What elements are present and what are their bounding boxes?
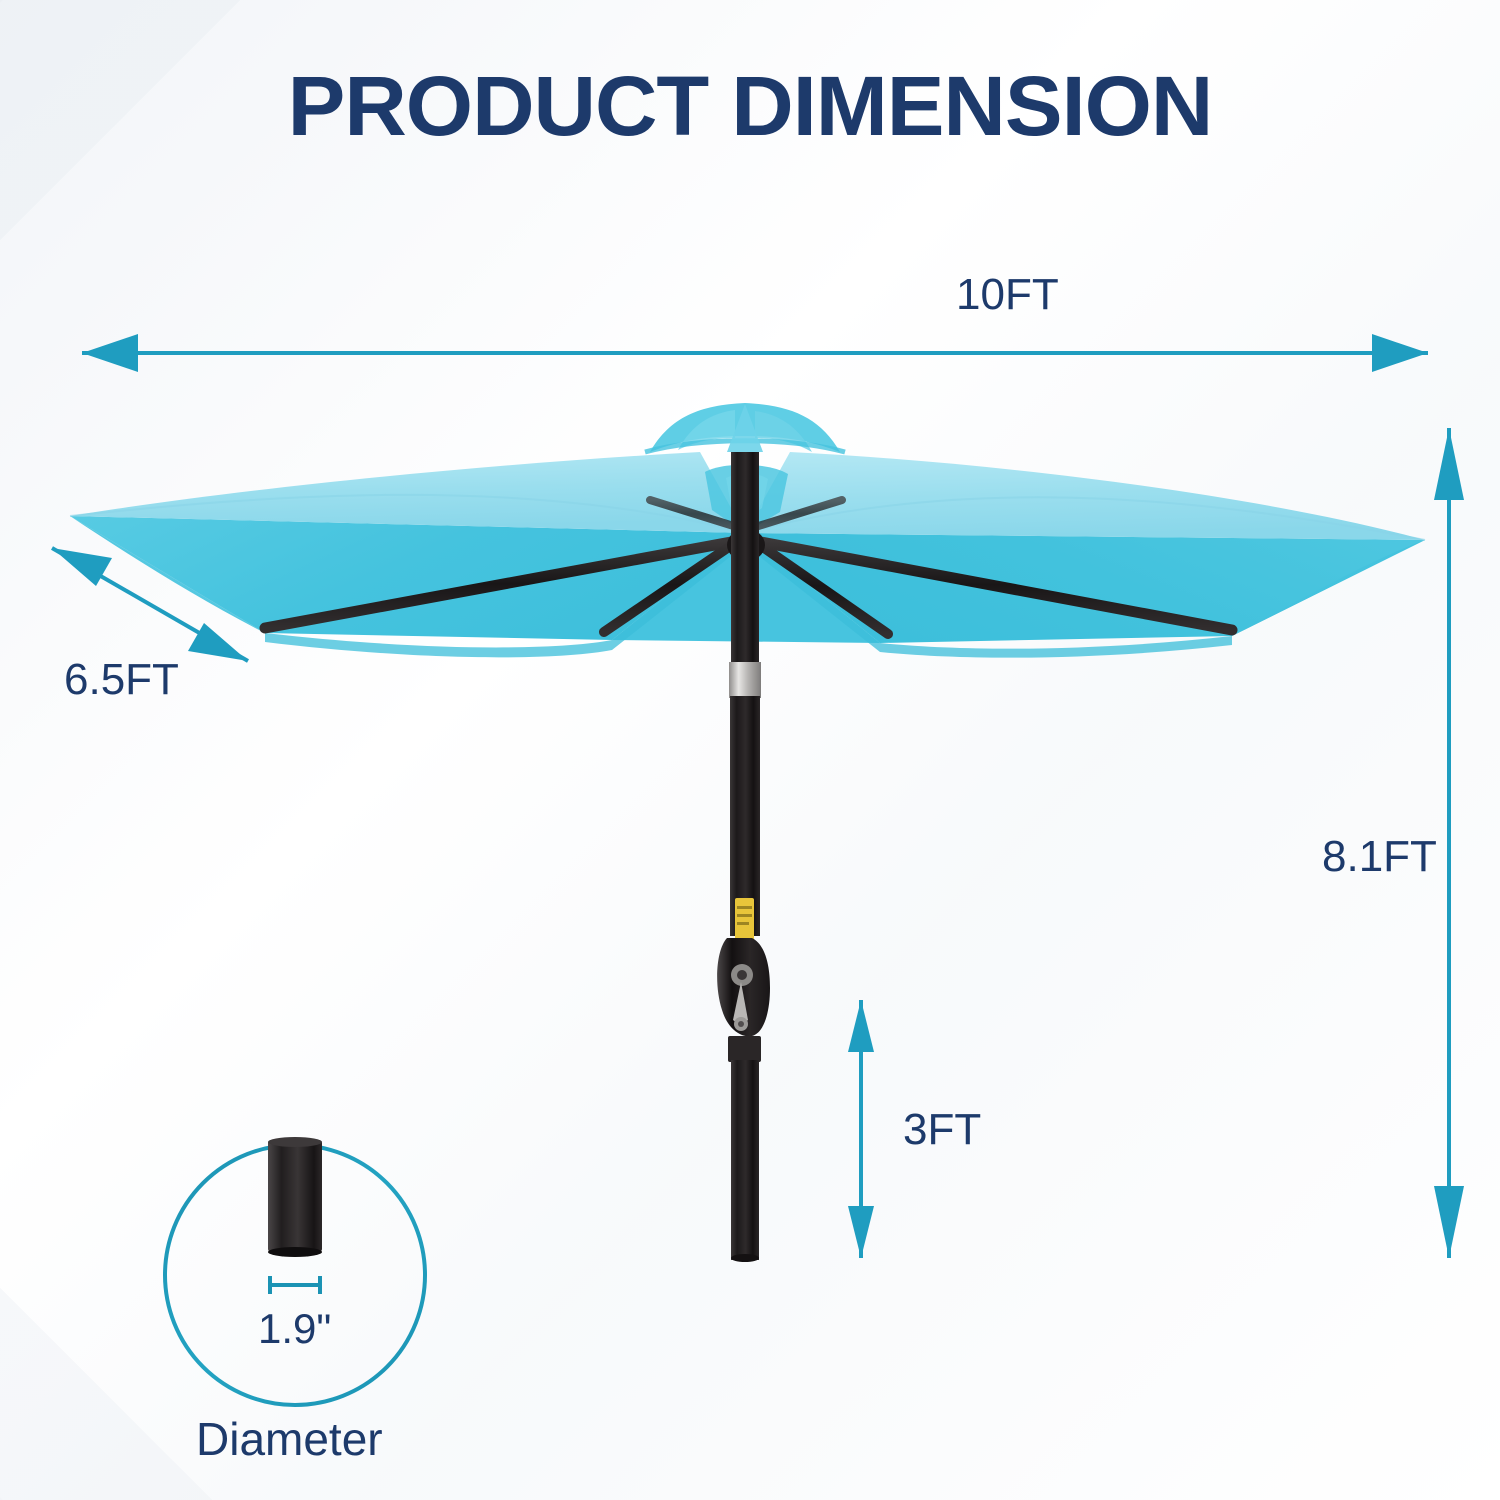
pole-lower-collar [728, 1036, 761, 1062]
product-dimension-diagram: PRODUCT DIMENSION [0, 0, 1500, 1500]
crank-hub-inner [737, 970, 747, 980]
pole-warning-label-text3 [737, 922, 749, 925]
callout-caption: Diameter [196, 1412, 383, 1466]
clearance-dimension-label: 3FT [903, 1105, 981, 1155]
pole-warning-label-text2 [737, 914, 752, 917]
callout-measure-label: 1.9" [258, 1305, 331, 1353]
canopy-top-right [745, 452, 1425, 540]
width-dimension-label: 10FT [956, 270, 1059, 320]
pole-bottom-cap [731, 1254, 759, 1262]
pole-upper [731, 452, 759, 667]
pole-joint-collar [729, 662, 761, 698]
crank-handle-knob-inner [738, 1021, 744, 1027]
depth-dimension-label: 6.5FT [64, 655, 179, 705]
umbrella-illustration [0, 0, 1500, 1500]
pole-warning-label-text [737, 906, 752, 909]
pole-warning-label [735, 898, 754, 940]
pole-lower [731, 1060, 759, 1260]
height-dimension-label: 8.1FT [1322, 832, 1437, 882]
